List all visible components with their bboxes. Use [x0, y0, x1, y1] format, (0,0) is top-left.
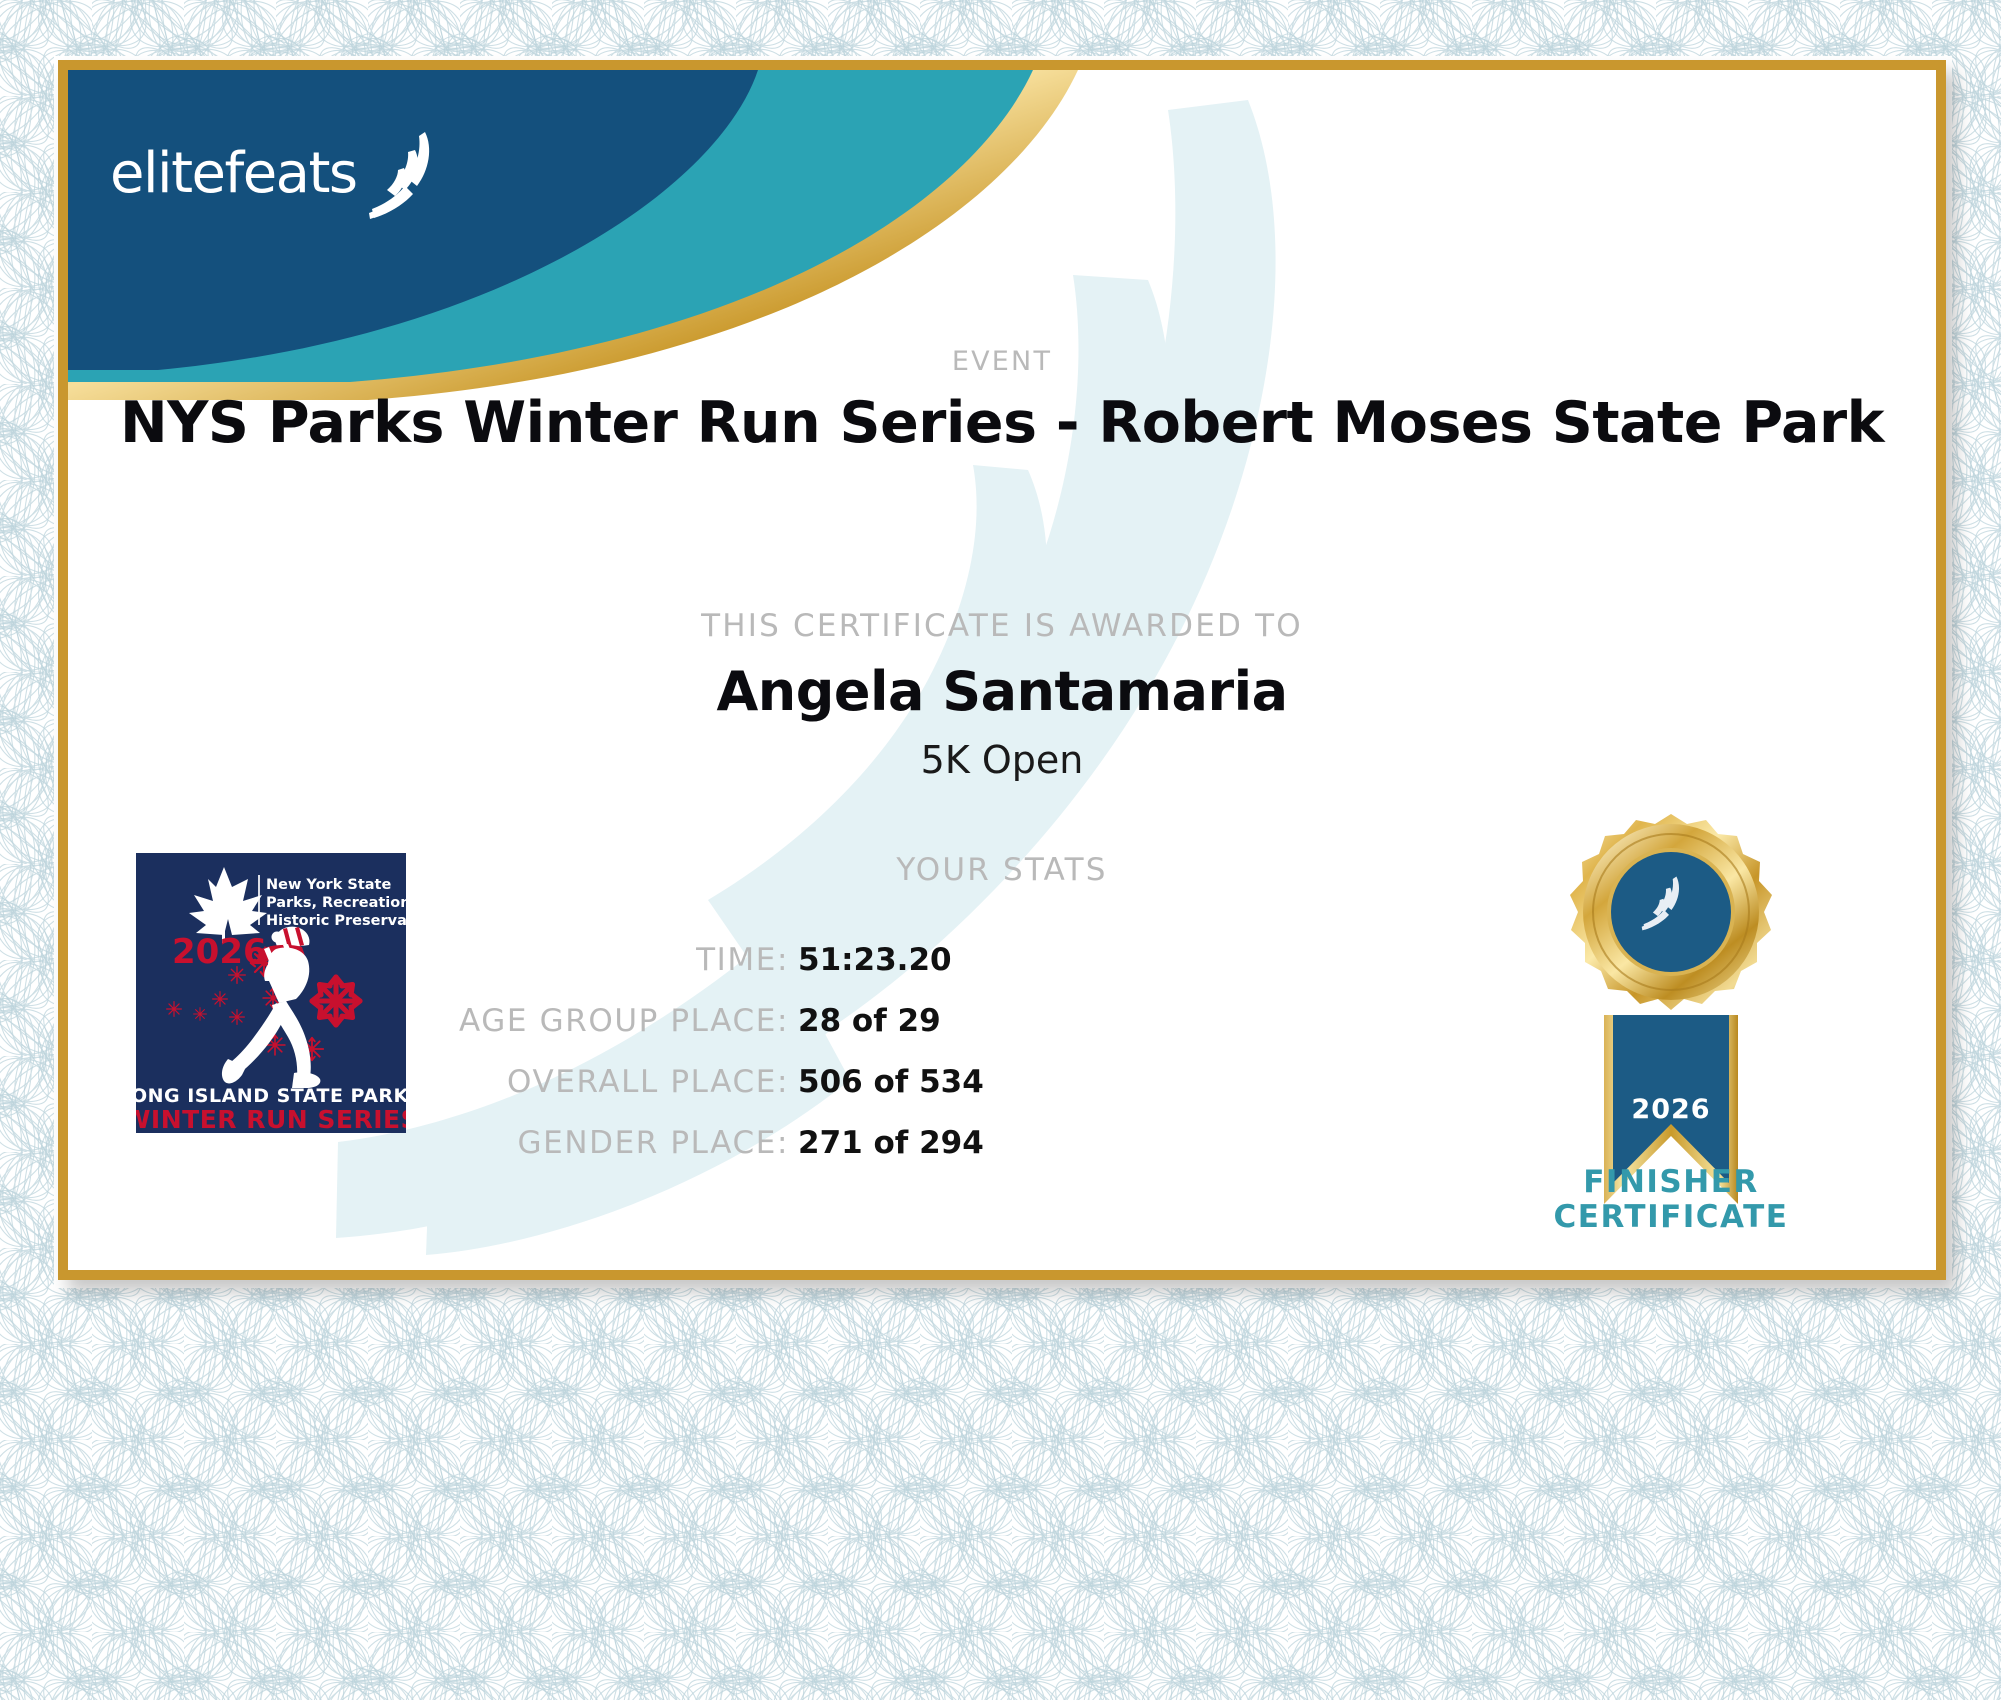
race-logo-artwork: New York State Parks, Recreation and His…: [136, 853, 406, 1133]
series-line-2: WINTER RUN SERIES: [136, 1105, 406, 1133]
stat-row-gender-place: GENDER PLACE: 271 of 294: [398, 1125, 1008, 1161]
medal-rosette: [1570, 814, 1772, 1010]
snowflake-icon: [312, 977, 360, 1025]
stat-label: AGE GROUP PLACE:: [398, 1003, 789, 1039]
stat-label: OVERALL PLACE:: [398, 1064, 789, 1100]
finisher-caption-line-1: FINISHER: [1486, 1165, 1856, 1200]
logo-year: 2026: [172, 932, 267, 972]
race-series-logo: New York State Parks, Recreation and His…: [136, 853, 406, 1133]
stat-row-time: TIME: 51:23.20: [398, 942, 1008, 978]
event-title: NYS Parks Winter Run Series - Robert Mos…: [68, 390, 1936, 456]
division-name: 5K Open: [68, 738, 1936, 782]
event-label: EVENT: [68, 346, 1936, 377]
finisher-caption-line-2: CERTIFICATE: [1486, 1200, 1856, 1235]
series-line-1: LONG ISLAND STATE PARKS: [136, 1085, 406, 1107]
awarded-to-label: THIS CERTIFICATE IS AWARDED TO: [68, 608, 1936, 644]
stat-value: 51:23.20: [798, 942, 1008, 978]
stat-value: 271 of 294: [798, 1125, 1008, 1161]
certificate-page: elitefeats EVENT NYS Parks Winter Run Se…: [0, 0, 2001, 1700]
stat-label: TIME:: [398, 942, 789, 978]
recipient-name: Angela Santamaria: [68, 660, 1936, 723]
stat-value: 506 of 534: [798, 1064, 1008, 1100]
certificate-body: elitefeats EVENT NYS Parks Winter Run Se…: [68, 70, 1936, 1270]
stats-list: TIME: 51:23.20 AGE GROUP PLACE: 28 of 29…: [398, 942, 1008, 1186]
stat-label: GENDER PLACE:: [398, 1125, 789, 1161]
stat-row-overall-place: OVERALL PLACE: 506 of 534: [398, 1064, 1008, 1100]
stat-value: 28 of 29: [798, 1003, 1008, 1039]
certificate-card: elitefeats EVENT NYS Parks Winter Run Se…: [58, 60, 1946, 1280]
agency-line-3: Historic Preservation: [266, 913, 406, 929]
medal-year: 2026: [1631, 1094, 1710, 1125]
agency-line-1: New York State: [266, 877, 391, 893]
finisher-caption: FINISHER CERTIFICATE: [1486, 1165, 1856, 1234]
stat-row-age-group-place: AGE GROUP PLACE: 28 of 29: [398, 1003, 1008, 1039]
agency-line-2: Parks, Recreation and: [266, 895, 406, 911]
